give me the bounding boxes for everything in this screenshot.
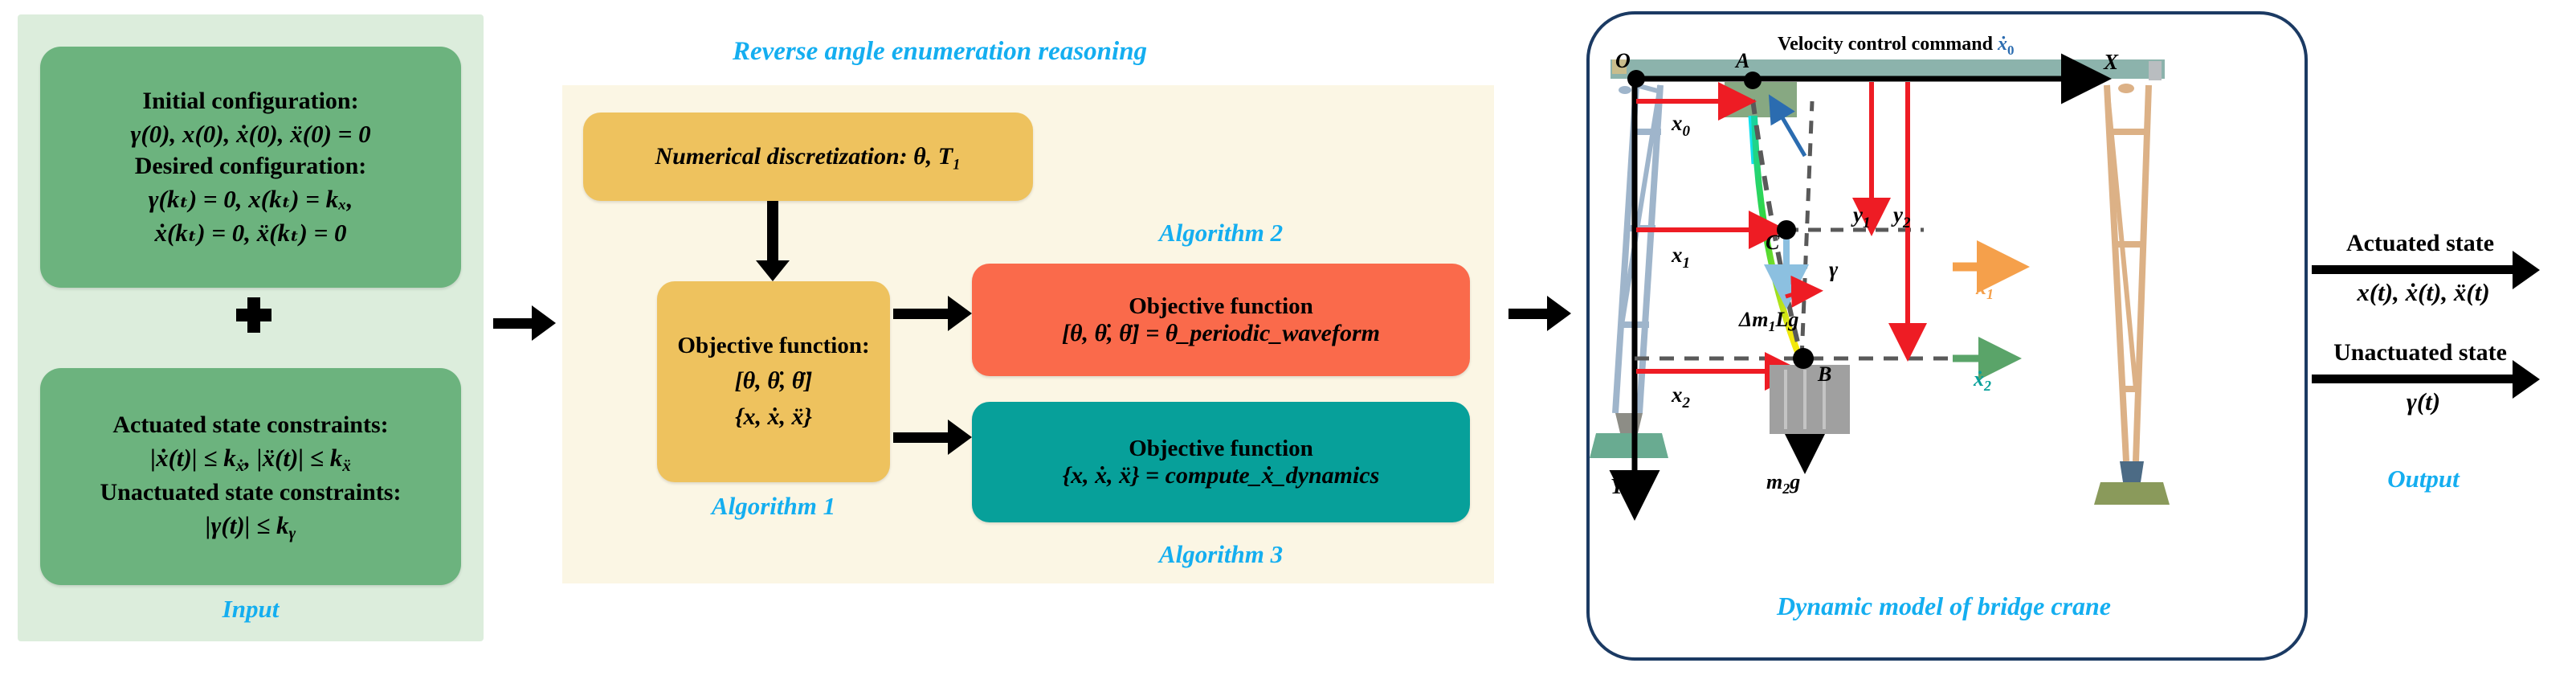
label-a: A: [1734, 49, 1749, 72]
unactuated-constraints-equation: |γ(t)| ≤ kγ: [206, 509, 296, 544]
algorithm-1-label: Algorithm 1: [657, 492, 890, 521]
algorithm-3-label: Algorithm 3: [972, 540, 1470, 569]
label-y1: y1: [1851, 203, 1870, 231]
crane-panel-label: Dynamic model of bridge crane: [1586, 592, 2301, 621]
algorithm-3-card: Objective function {x, ẋ, ẍ} = compute_ẋ…: [972, 402, 1470, 522]
actuated-constraints-title: Actuated state constraints:: [112, 409, 388, 441]
crane-girder: [1611, 59, 2165, 79]
label-x1: x1: [1671, 243, 1690, 272]
label-gamma: γ: [1829, 257, 1839, 281]
algorithm-2-card: Objective function [θ, θ̇, θ̈] = θ_perio…: [972, 264, 1470, 376]
arrow-objective-to-algorithm3: [893, 420, 972, 455]
right-leg-foot: [2120, 461, 2144, 482]
label-m2g: m2g: [1766, 470, 1800, 497]
label-x2dot: ẋ2: [1973, 367, 1991, 394]
arrow-discretization-to-objective-shaft: [767, 201, 778, 264]
objective-function-card: Objective function: [θ, θ̇, θ̈] {x, ẋ, ẍ…: [657, 281, 890, 482]
node-c: [1777, 220, 1796, 239]
desired-configuration-equation-1: γ(kₜ) = 0, x(kₜ) = kₓ,: [149, 182, 353, 215]
right-leg-base: [2094, 482, 2170, 505]
objective-function-theta-vector: [θ, θ̇, θ̈]: [735, 362, 813, 399]
payload-crate: [1770, 365, 1850, 434]
algorithm-2-title: Objective function: [1129, 293, 1313, 320]
plus-icon: [236, 297, 271, 333]
unactuated-state-value: γ(t): [2312, 387, 2535, 416]
initial-desired-configuration-card: Initial configuration: γ(0), x(0), ẋ(0),…: [40, 47, 461, 288]
initial-configuration-equation: γ(0), x(0), ẋ(0), ẍ(0) = 0: [130, 117, 370, 150]
desired-configuration-equation-2: ẋ(kₜ) = 0, ẍ(kₜ) = 0: [154, 216, 346, 249]
arrow-middle-to-crane: [1508, 296, 1571, 331]
actuated-constraints-equation: |ẋ(t)| ≤ kẋ, |ẍ(t)| ≤ kẍ: [150, 441, 351, 477]
node-o: [1627, 70, 1645, 88]
bridge-crane-diagram: O A C B X Y x0 x1 x2 y1 y2 γ Δm1Lg m2g ẋ…: [1586, 11, 2301, 654]
node-a: [1744, 72, 1762, 89]
state-constraints-card: Actuated state constraints: |ẋ(t)| ≤ kẋ,…: [40, 368, 461, 585]
objective-function-x-vector: {x, ẋ, ẍ}: [735, 399, 812, 435]
numerical-discretization-label: Numerical discretization: θ, T₁: [655, 143, 961, 170]
unactuated-state-label: Unactuated state: [2307, 339, 2533, 366]
algorithm-3-formula: {x, ẋ, ẍ} = compute_ẋ_dynamics: [1063, 462, 1380, 489]
left-leg-base: [1590, 433, 1668, 458]
label-o: O: [1615, 49, 1631, 72]
objective-function-title: Objective function:: [677, 329, 869, 362]
arrow-input-to-middle: [493, 305, 556, 341]
middle-panel-title: Reverse angle enumeration reasoning: [562, 37, 1317, 67]
algorithm-3-title: Objective function: [1129, 436, 1313, 462]
algorithm-2-label: Algorithm 2: [972, 219, 1470, 248]
label-x0: x0: [1671, 111, 1691, 140]
desired-configuration-title: Desired configuration:: [135, 150, 367, 182]
label-b: B: [1817, 362, 1831, 386]
arrow-discretization-to-objective-head: [756, 260, 790, 281]
unactuated-constraints-title: Unactuated state constraints:: [100, 477, 402, 509]
gamma-angle-arc: [1786, 291, 1815, 297]
actuated-state-arrow-shaft: [2312, 265, 2527, 274]
initial-configuration-title: Initial configuration:: [142, 85, 358, 117]
unactuated-state-arrow-shaft: [2312, 375, 2527, 383]
algorithm-2-formula: [θ, θ̇, θ̈] = θ_periodic_waveform: [1062, 320, 1380, 347]
input-panel-label: Input: [18, 595, 484, 624]
crane-right-leg: [2107, 85, 2149, 461]
label-x1dot: ẋ1: [1975, 276, 1994, 302]
input-panel: Initial configuration: γ(0), x(0), ẋ(0),…: [18, 14, 484, 641]
numerical-discretization-card: Numerical discretization: θ, T₁: [583, 113, 1033, 201]
actuated-state-label: Actuated state: [2312, 230, 2529, 257]
actuated-state-value: x(t), ẋ(t), ẍ(t): [2312, 278, 2535, 307]
label-x-axis: X: [2103, 50, 2119, 74]
label-velocity-control-command: Velocity control command ẋ0: [1778, 34, 2014, 58]
output-panel-label: Output: [2312, 465, 2535, 493]
label-dm1lg: Δm1Lg: [1738, 308, 1798, 334]
crane-left-leg: [1615, 85, 1661, 413]
label-y-axis: Y: [1611, 474, 1626, 498]
left-leg-foot: [1615, 413, 1643, 433]
label-c: C: [1766, 231, 1780, 254]
node-b: [1793, 348, 1814, 369]
label-x2: x2: [1671, 383, 1691, 411]
arrow-objective-to-algorithm2: [893, 296, 972, 331]
